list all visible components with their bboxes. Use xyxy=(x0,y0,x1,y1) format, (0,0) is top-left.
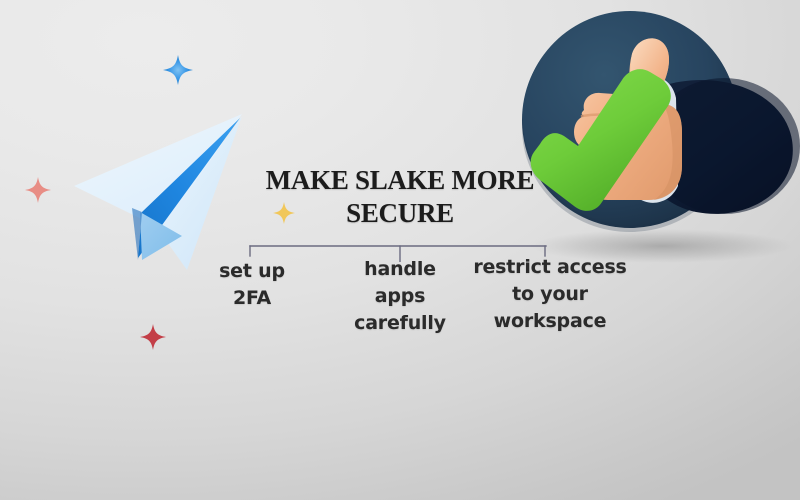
infographic-canvas: MAKE SLAKE MORE SECURE xyxy=(0,0,800,500)
branch-2-line-2: workspace xyxy=(462,308,638,335)
branch-2-line-1: to your xyxy=(462,281,638,308)
branch-label-restrict-access: restrict access to your workspace xyxy=(462,254,638,335)
red-sparkle-deep-icon xyxy=(140,324,166,350)
branch-0-line-1: 2FA xyxy=(186,285,318,312)
thumbs-up-illustration xyxy=(512,6,800,251)
red-sparkle-pale-icon xyxy=(25,177,51,203)
branch-label-handle-apps-carefully: handle apps carefully xyxy=(334,256,466,337)
branch-1-line-1: apps xyxy=(334,283,466,310)
branch-label-set-up-2fa: set up 2FA xyxy=(186,258,318,312)
branch-0-line-0: set up xyxy=(186,258,318,285)
blue-sparkle-icon xyxy=(163,55,193,85)
branch-2-line-0: restrict access xyxy=(462,254,638,281)
branch-1-line-0: handle xyxy=(334,256,466,283)
branch-1-line-2: carefully xyxy=(334,310,466,337)
